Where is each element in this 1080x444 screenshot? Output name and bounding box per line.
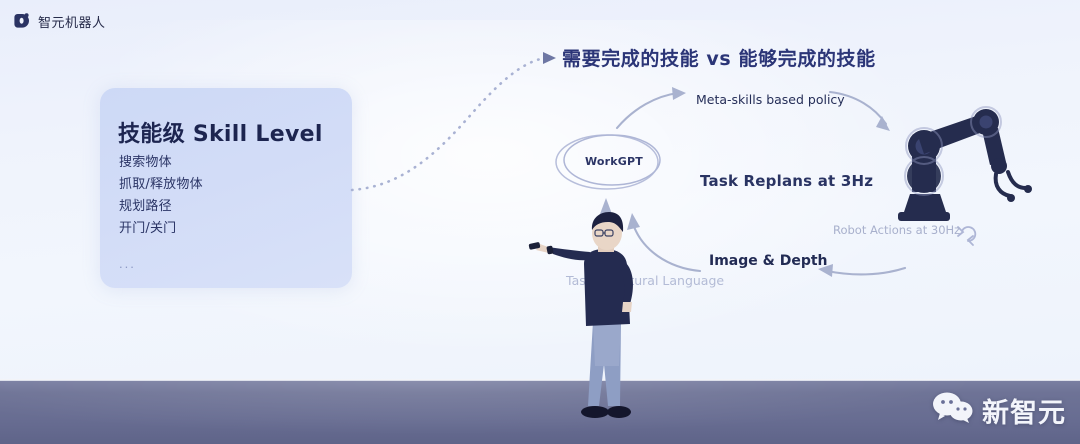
arrow-workgpt-to-meta-icon (617, 87, 686, 128)
node-label-workgpt: WorkGPT (577, 155, 651, 168)
watermark: 新智元 (932, 391, 1066, 430)
presenter-silhouette-icon (520, 216, 680, 444)
label-image-depth: Image & Depth (709, 252, 828, 272)
watermark-text: 新智元 (982, 391, 1066, 430)
label-task-replans: Task Replans at 3Hz (700, 172, 873, 190)
robot-arm-icon (884, 104, 1004, 234)
label-meta-skills-policy: Meta-skills based policy (696, 91, 845, 109)
slide-screenshot: 智元机器人 技能级 Skill Level 搜索物体 抓取/释放物体 规划路径 … (0, 0, 1080, 444)
wechat-icon (932, 392, 974, 429)
arrow-robot-to-image-icon (818, 264, 905, 277)
